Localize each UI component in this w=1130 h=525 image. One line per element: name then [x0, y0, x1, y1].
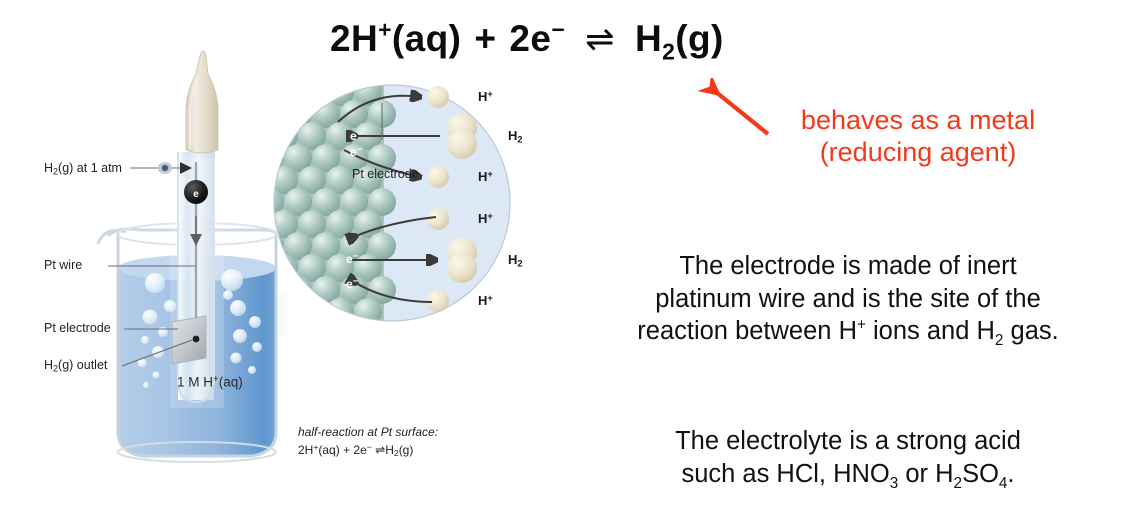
slide-canvas: 2H+(aq)+2e−⇌H2(g) behaves as a metal (re… [0, 0, 1130, 525]
equation-rhs-state: (g) [675, 18, 723, 59]
rubber-stopper [186, 51, 218, 153]
zoom-circle-caption: half-reaction at Pt surface: 2H+(aq) + 2… [298, 424, 528, 460]
species-label-proton-4: H+ [478, 293, 493, 308]
equation-rhs-species: H [635, 18, 662, 59]
svg-text:e: e [193, 189, 199, 200]
species-label-proton-2: H+ [478, 169, 493, 184]
label-h2-outlet-post: (g) outlet [58, 358, 107, 372]
paragraph2-hno3-subscript: 3 [890, 475, 899, 492]
paragraph2-line2-post: . [1007, 460, 1014, 488]
proton-2 [427, 166, 449, 188]
proton-3 [427, 208, 449, 230]
paragraph2-h2so4-subscript-1: 2 [954, 475, 963, 492]
paragraph1-line3: reaction between H+ ions and H2 gas. [588, 315, 1108, 348]
species-label-proton-1: H+ [478, 89, 493, 104]
body-paragraph-2: The electrolyte is a strong acid such as… [588, 425, 1108, 490]
paragraph1-line3-post: gas. [1003, 317, 1058, 345]
paragraph1-line3-mid: ions and H [866, 317, 995, 345]
paragraph2-line2-mid2: SO [962, 460, 999, 488]
electron-label-1: e− [350, 128, 362, 143]
paragraph2-line2-pre: such as HCl, HNO [681, 460, 889, 488]
paragraph2-line1: The electrolyte is a strong acid [588, 425, 1108, 458]
label-h2-outlet-pre: H [44, 358, 53, 372]
label-solution-post: (aq) [219, 374, 243, 389]
paragraph2-line2-mid: or H [898, 460, 953, 488]
electron-label-2: e− [350, 144, 362, 159]
label-h2-inlet-post: (g) at 1 atm [58, 161, 122, 175]
paragraph1-line3-superscript: + [857, 317, 866, 334]
caption-title: half-reaction at Pt surface: [298, 424, 528, 441]
platinum-electrode-plate [172, 316, 206, 364]
caption-equilibrium-arrow-icon: ⇌ [375, 443, 385, 457]
red-callout-text: behaves as a metal (reducing agent) [768, 105, 1068, 169]
label-h2-outlet: H2(g) outlet [44, 358, 107, 373]
standard-hydrogen-electrode-figure: e H2(g) at 1 atm Pt wire [0, 40, 565, 520]
species-label-hydrogen-2: H2 [508, 252, 523, 268]
label-pt-electrode: Pt electrode [44, 321, 111, 335]
hydrogen-molecule-2 [447, 237, 477, 283]
equilibrium-arrow-icon: ⇌ [585, 20, 615, 59]
label-pt-electrode-zoom: Pt electrode [352, 167, 419, 181]
hydrogen-molecule-1 [447, 113, 477, 159]
magnifier-focus-point [193, 336, 200, 343]
caption-equation: 2H+(aq) + 2e− ⇌H2(g) [298, 441, 528, 460]
equation-lhs-charge: + [378, 17, 392, 43]
tube-clamp: e [184, 180, 208, 204]
label-solution-concentration: 1 M H+(aq) [177, 374, 243, 389]
paragraph1-line1: The electrode is made of inert [588, 250, 1108, 283]
paragraph2-line2: such as HCl, HNO3 or H2SO4. [588, 458, 1108, 491]
proton-1 [427, 86, 449, 108]
label-pt-wire: Pt wire [44, 258, 82, 272]
callout-line-1: behaves as a metal [768, 105, 1068, 137]
paragraph1-line2: platinum wire and is the site of the [588, 283, 1108, 316]
body-paragraph-1: The electrode is made of inert platinum … [588, 250, 1108, 348]
paragraph1-line3-pre: reaction between H [637, 317, 857, 345]
callout-line-2: (reducing agent) [768, 137, 1068, 169]
equation-rhs-subscript: 2 [662, 38, 675, 64]
species-label-proton-3: H+ [478, 211, 493, 226]
equation-electron-charge: − [551, 17, 565, 43]
label-solution-pre: 1 M H [177, 374, 213, 389]
electron-label-4: e− [346, 276, 358, 291]
electron-label-3: e− [346, 251, 358, 266]
label-h2-inlet: H2(g) at 1 atm [44, 161, 122, 176]
label-h2-inlet-pre: H [44, 161, 53, 175]
species-label-hydrogen-1: H2 [508, 128, 523, 144]
